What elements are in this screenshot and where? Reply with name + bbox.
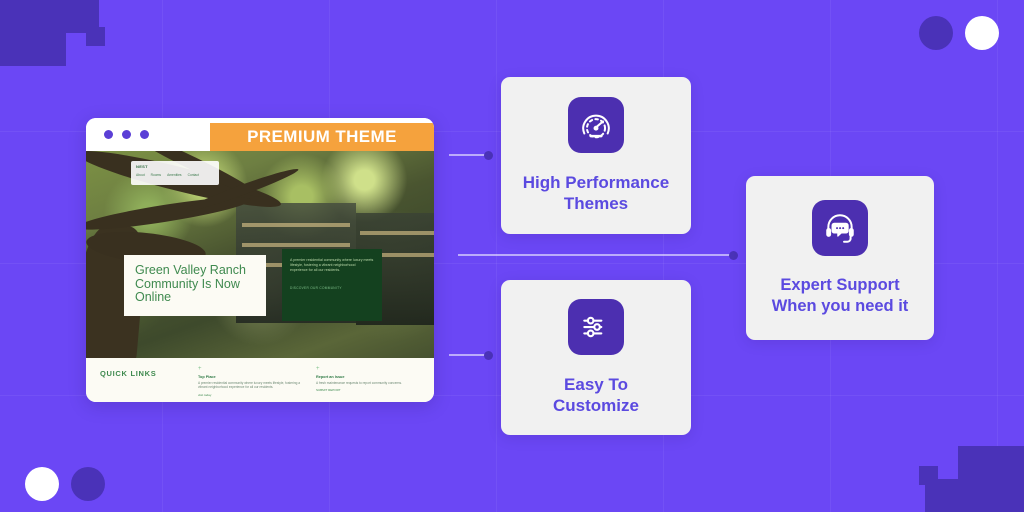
corner-decoration-bottom-right	[958, 446, 1024, 512]
feature-card-title: Expert Support When you need it	[772, 275, 909, 317]
circle-top-dark	[919, 16, 953, 50]
footer-column-top-place: + Top Place A premier residential commun…	[198, 366, 302, 402]
infographic-canvas: PREMIUM THEME NEST About Rooms Amen	[0, 0, 1024, 512]
connector-dot-support	[729, 251, 738, 260]
site-nav-item-about[interactable]: About	[136, 173, 145, 177]
footer-body: A fresh maintenance requests to report c…	[316, 381, 420, 385]
footer-column-report-issue: + Report an Issue A fresh maintenance re…	[316, 366, 420, 402]
hero-panel-cta[interactable]: DISCOVER OUR COMMUNITY	[290, 286, 374, 290]
window-dot-close-icon[interactable]	[104, 130, 113, 139]
site-nav-bar[interactable]: NEST About Rooms Amenities Contact	[131, 161, 219, 185]
headset-support-icon	[812, 200, 868, 256]
circle-bottom-white	[25, 467, 59, 501]
feature-card-title: High Performance Themes	[523, 172, 669, 214]
speedometer-icon	[568, 97, 624, 153]
feature-card-high-performance[interactable]: High Performance Themes	[501, 77, 691, 234]
connector-dot-performance	[484, 151, 493, 160]
hero-green-panel: A premier residential community where lu…	[282, 249, 382, 321]
footer-link[interactable]: SUBMIT REPORT	[316, 388, 420, 392]
footer-heading: Report an Issue	[316, 375, 420, 379]
connector-dot-customize	[484, 351, 493, 360]
hero-photo: NEST About Rooms Amenities Contact Green…	[86, 151, 434, 358]
connector-to-support	[458, 254, 734, 256]
window-controls[interactable]	[86, 130, 149, 139]
premium-theme-ribbon: PREMIUM THEME	[210, 123, 434, 151]
footer-body: A premier residential community where lu…	[198, 381, 302, 390]
site-footer: QUICK LINKS + Top Place A premier reside…	[86, 358, 434, 402]
hero-headline: Green Valley Ranch Community Is Now Onli…	[135, 264, 255, 305]
site-nav-item-contact[interactable]: Contact	[188, 173, 199, 177]
window-dot-minimize-icon[interactable]	[122, 130, 131, 139]
quick-links-title: QUICK LINKS	[100, 366, 184, 402]
feature-card-easy-to-customize[interactable]: Easy To Customize	[501, 280, 691, 435]
premium-theme-label: PREMIUM THEME	[247, 127, 397, 147]
corner-nub-top-left	[86, 27, 105, 46]
footer-heading: Top Place	[198, 375, 302, 379]
browser-mockup[interactable]: PREMIUM THEME NEST About Rooms Amen	[86, 118, 434, 402]
feature-card-expert-support[interactable]: Expert Support When you need it	[746, 176, 934, 340]
browser-chrome-bar: PREMIUM THEME	[86, 118, 434, 151]
corner-nub-bottom-right	[919, 466, 938, 485]
window-strip	[242, 223, 350, 227]
hero-headline-card: Green Valley Ranch Community Is Now Onli…	[124, 255, 266, 316]
feature-card-title: Easy To Customize	[553, 374, 639, 416]
site-logo: NEST	[136, 164, 214, 169]
site-nav-item-amenities[interactable]: Amenities	[167, 173, 181, 177]
site-nav-items[interactable]: About Rooms Amenities Contact	[136, 173, 214, 177]
window-strip	[242, 243, 350, 247]
hero-panel-body: A premier residential community where lu…	[290, 258, 374, 274]
window-strip	[360, 231, 434, 235]
site-nav-item-rooms[interactable]: Rooms	[151, 173, 161, 177]
circle-top-white	[965, 16, 999, 50]
plus-icon: +	[316, 366, 420, 372]
window-dot-maximize-icon[interactable]	[140, 130, 149, 139]
circle-bottom-dark	[71, 467, 105, 501]
plus-icon: +	[198, 366, 302, 372]
sliders-icon	[568, 299, 624, 355]
corner-decoration-top-left	[0, 0, 66, 66]
footer-link[interactable]: visit today	[198, 393, 302, 397]
